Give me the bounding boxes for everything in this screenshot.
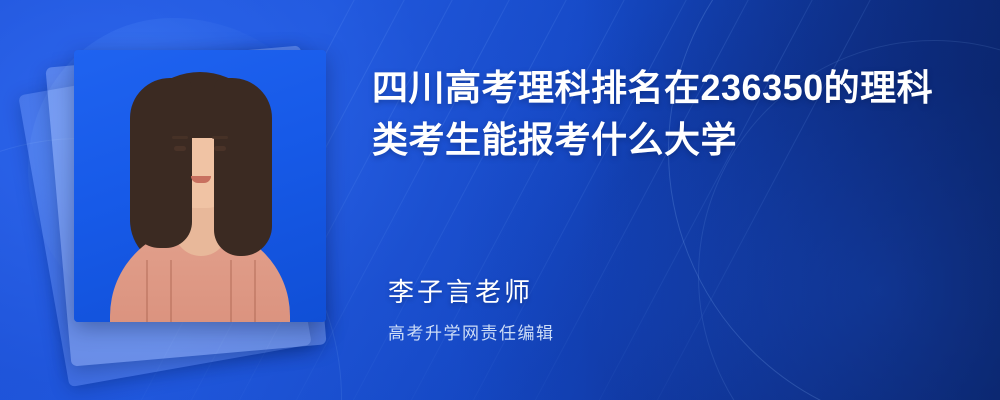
portrait-dress-fold bbox=[146, 260, 148, 322]
author-photo bbox=[74, 50, 326, 322]
portrait-eye-left bbox=[174, 146, 186, 151]
portrait-eyebrow-right bbox=[212, 136, 228, 139]
author-name: 李子言老师 bbox=[388, 272, 948, 309]
portrait-dress-fold bbox=[254, 260, 256, 322]
portrait-eyebrow-left bbox=[172, 136, 188, 139]
portrait-dress-fold bbox=[230, 260, 232, 322]
byline-block: 李子言老师 高考升学网责任编辑 bbox=[388, 272, 948, 344]
portrait-dress-fold bbox=[170, 260, 172, 322]
article-cover-banner: 四川高考理科排名在236350的理科类考生能报考什么大学 李子言老师 高考升学网… bbox=[0, 0, 1000, 400]
photo-card-stack bbox=[42, 26, 342, 374]
author-role: 高考升学网责任编辑 bbox=[388, 319, 948, 344]
portrait-illustration bbox=[74, 50, 326, 322]
portrait-eye-right bbox=[214, 146, 226, 151]
article-headline: 四川高考理科排名在236350的理科类考生能报考什么大学 bbox=[372, 62, 952, 166]
headline-block: 四川高考理科排名在236350的理科类考生能报考什么大学 bbox=[372, 62, 952, 166]
portrait-hair-left bbox=[130, 78, 192, 248]
portrait-hair-right bbox=[214, 78, 272, 256]
